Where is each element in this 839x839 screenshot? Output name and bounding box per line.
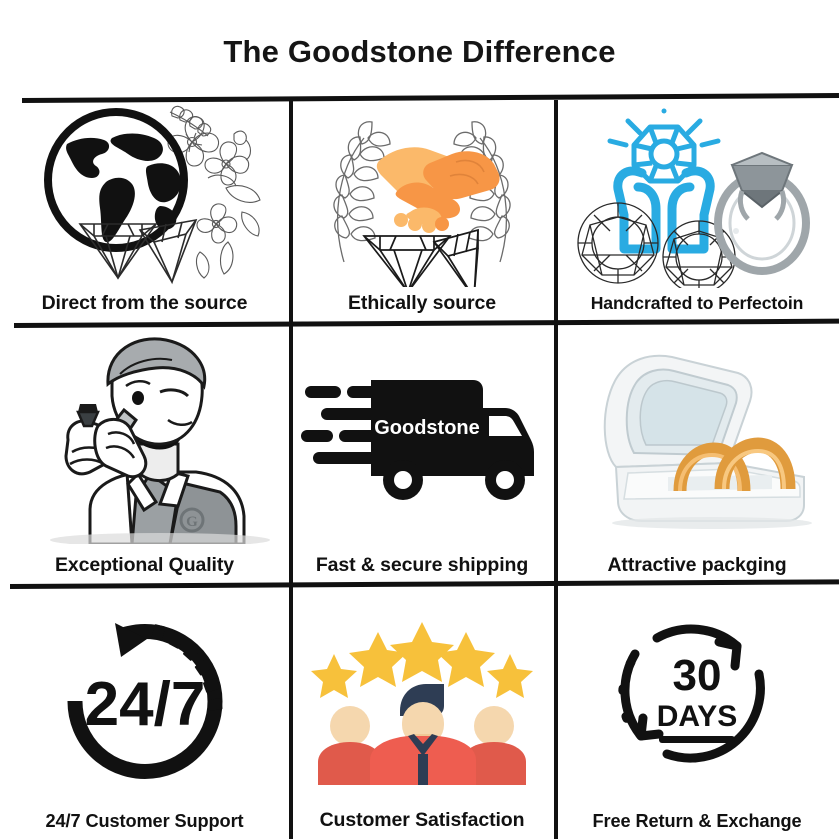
feature-cell-free-return[interactable]: 30 DAYS Free Return & Exchange: [555, 585, 839, 839]
24-7-clock-arrow-icon: 24/7: [0, 585, 289, 812]
feature-cell-direct-from-source[interactable]: Direct from the source: [0, 96, 289, 322]
feature-label: Attractive packging: [607, 556, 786, 585]
feature-cell-handcrafted[interactable]: Handcrafted to Perfectoin: [555, 96, 839, 322]
feature-cell-fast-shipping[interactable]: Goodstone Fast & secure shipping: [290, 323, 554, 584]
handshake-laurel-diamonds-icon: [290, 96, 554, 294]
feature-label: Exceptional Quality: [55, 556, 234, 585]
feature-cell-exceptional-quality[interactable]: G: [0, 323, 289, 584]
feature-label: Ethically source: [348, 294, 496, 323]
feature-cell-ethically-source[interactable]: Ethically source: [290, 96, 554, 322]
hands-holding-gem-ring-icon: [555, 96, 839, 295]
feature-cell-customer-support[interactable]: 24/7 24/7 Customer Support: [0, 585, 289, 839]
feature-label: Fast & secure shipping: [316, 556, 528, 585]
feature-cell-customer-satisfaction[interactable]: Customer Satisfaction: [290, 585, 554, 839]
five-stars-people-icon: [290, 585, 554, 811]
page-title: The Goodstone Difference: [0, 34, 839, 70]
feature-label: Direct from the source: [42, 294, 248, 323]
feature-label: Customer Satisfaction: [320, 811, 525, 839]
feature-label: Free Return & Exchange: [592, 812, 801, 839]
feature-label: 24/7 Customer Support: [46, 812, 244, 839]
delivery-truck-icon: Goodstone: [290, 323, 554, 556]
support-hours-text: 24/7: [84, 670, 205, 739]
30-days-return-arrows-icon: 30 DAYS: [555, 585, 839, 812]
feature-label: Handcrafted to Perfectoin: [591, 295, 804, 322]
svg-text:G: G: [186, 514, 198, 530]
jeweler-loupe-icon: G: [0, 323, 289, 556]
feature-cell-attractive-packaging[interactable]: Attractive packging: [555, 323, 839, 584]
ring-box-icon: [555, 323, 839, 556]
globe-flowers-diamonds-icon: [0, 96, 289, 294]
return-unit-text: DAYS: [657, 700, 738, 733]
feature-grid: Direct from the source: [0, 96, 839, 839]
truck-brand-text: Goodstone: [374, 417, 480, 439]
infographic-page: The Goodstone Difference: [0, 0, 839, 839]
return-number-text: 30: [673, 651, 722, 700]
